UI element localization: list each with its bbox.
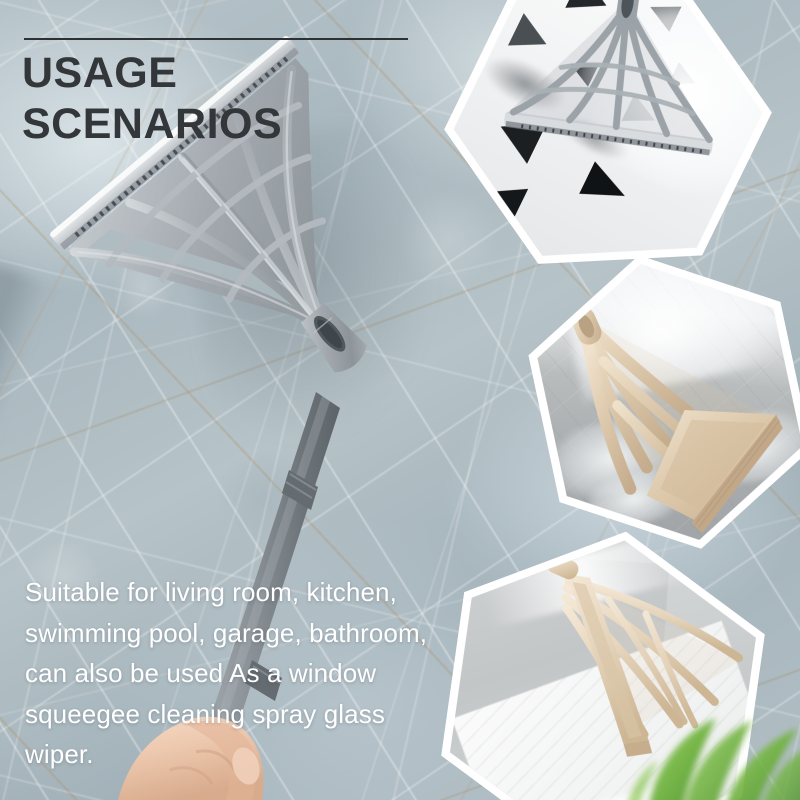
squeegee-head-shadow bbox=[175, 112, 467, 464]
page-title-line1: USAGE bbox=[22, 49, 177, 97]
header-divider-rule bbox=[24, 38, 408, 40]
plant-leaves-decor bbox=[620, 662, 800, 800]
description-text: Suitable for living room, kitchen, swimm… bbox=[25, 572, 450, 775]
usage-scenarios-poster: USAGE SCENARIOS Suitable for living room… bbox=[0, 0, 800, 800]
plant-leaf-group bbox=[626, 718, 800, 800]
